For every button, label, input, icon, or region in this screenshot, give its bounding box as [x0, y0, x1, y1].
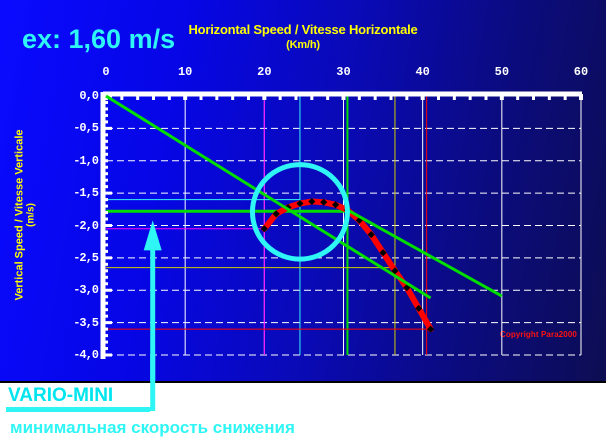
chart-annotations — [144, 165, 348, 381]
glide-line — [347, 210, 501, 296]
plot-area — [0, 0, 606, 381]
slide-canvas: ex: 1,60 m/s Horizontal Speed / Vitesse … — [0, 0, 606, 383]
vario-mini-label: VARIO-MINI — [8, 385, 113, 407]
vario-mini-underline — [6, 409, 150, 412]
russian-caption: минимальная скорость снижения — [10, 418, 295, 438]
data-series — [106, 96, 502, 333]
